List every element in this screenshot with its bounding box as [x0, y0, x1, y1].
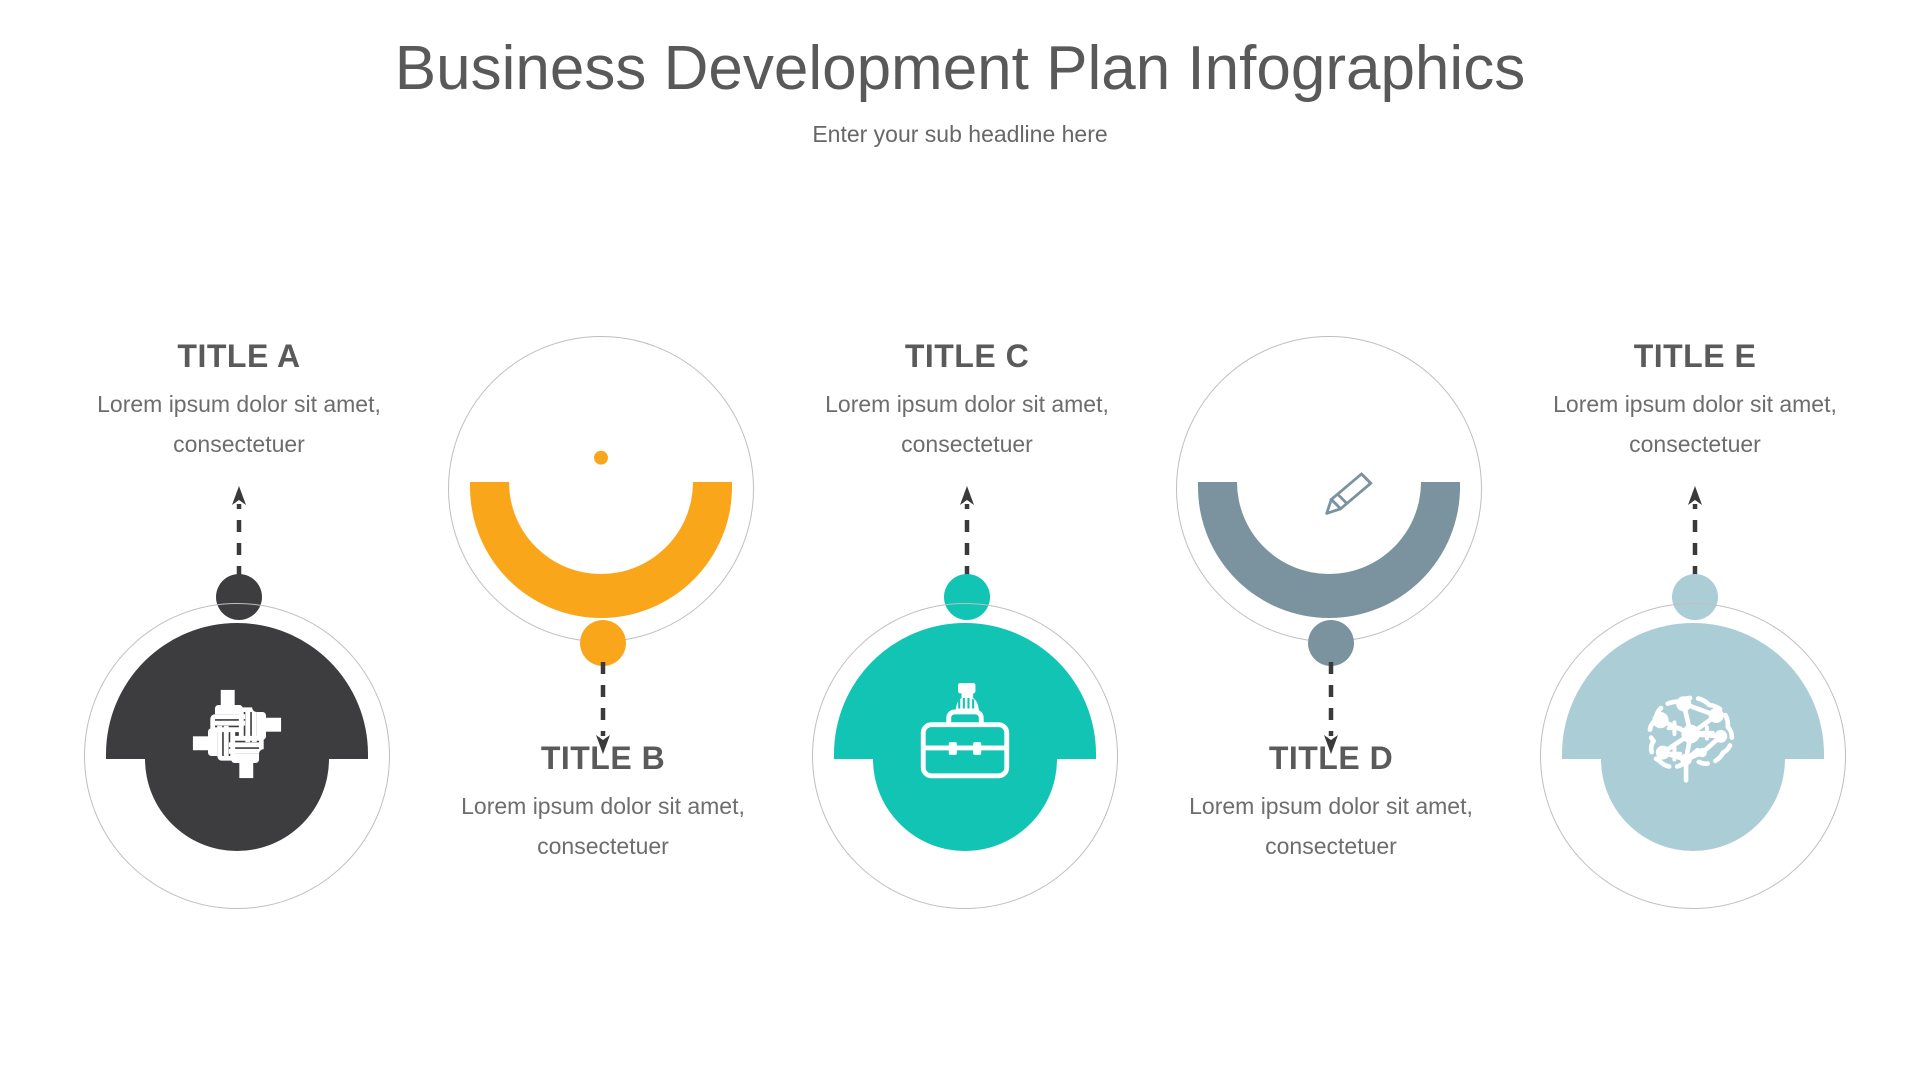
node-c-connector-arrow — [960, 486, 974, 578]
slide-header: Business Development Plan Infographics E… — [0, 36, 1920, 148]
node-d-connector-dot — [1308, 620, 1354, 666]
node-e-connector-arrow — [1688, 486, 1702, 578]
infographic-node-d[interactable]: $ TITLE D Lorem ipsum dolor sit amet, co… — [1176, 260, 1486, 900]
infographic-node-a[interactable]: TITLE A Lorem ipsum dolor sit amet, cons… — [84, 338, 394, 978]
node-d-text-block: TITLE D Lorem ipsum dolor sit amet, cons… — [1166, 740, 1496, 866]
node-b-connector-dot — [580, 620, 626, 666]
node-c-disc[interactable] — [814, 603, 1116, 905]
node-d-disc[interactable] — [1178, 336, 1480, 638]
node-e-title: TITLE E — [1530, 338, 1860, 375]
node-b-disc[interactable] — [450, 336, 752, 638]
node-e-text-block: TITLE E Lorem ipsum dolor sit amet, cons… — [1530, 338, 1860, 464]
page-subtitle: Enter your sub headline here — [0, 101, 1920, 148]
node-d-title: TITLE D — [1166, 740, 1496, 777]
node-c-description: Lorem ipsum dolor sit amet, consectetuer — [802, 375, 1132, 464]
node-b-text-block: TITLE B Lorem ipsum dolor sit amet, cons… — [438, 740, 768, 866]
node-b-description: Lorem ipsum dolor sit amet, consectetuer — [438, 777, 768, 866]
node-a-description: Lorem ipsum dolor sit amet, consectetuer — [74, 375, 404, 464]
infographic-node-e[interactable]: TITLE E Lorem ipsum dolor sit amet, cons… — [1540, 338, 1850, 978]
node-c-text-block: TITLE C Lorem ipsum dolor sit amet, cons… — [802, 338, 1132, 464]
node-a-text-block: TITLE A Lorem ipsum dolor sit amet, cons… — [74, 338, 404, 464]
infographic-node-c[interactable]: TITLE C Lorem ipsum dolor sit amet, cons… — [812, 338, 1122, 978]
node-b-title: TITLE B — [438, 740, 768, 777]
node-c-title: TITLE C — [802, 338, 1132, 375]
node-a-connector-arrow — [232, 486, 246, 578]
node-e-disc[interactable] — [1542, 603, 1844, 905]
page-title: Business Development Plan Infographics — [0, 36, 1920, 101]
node-e-description: Lorem ipsum dolor sit amet, consectetuer — [1530, 375, 1860, 464]
infographic-node-b[interactable]: TITLE B Lorem ipsum dolor sit amet, cons… — [448, 260, 758, 900]
slide-canvas: Business Development Plan Infographics E… — [0, 0, 1920, 1080]
node-a-title: TITLE A — [74, 338, 404, 375]
node-d-description: Lorem ipsum dolor sit amet, consectetuer — [1166, 777, 1496, 866]
node-a-disc[interactable] — [86, 603, 388, 905]
